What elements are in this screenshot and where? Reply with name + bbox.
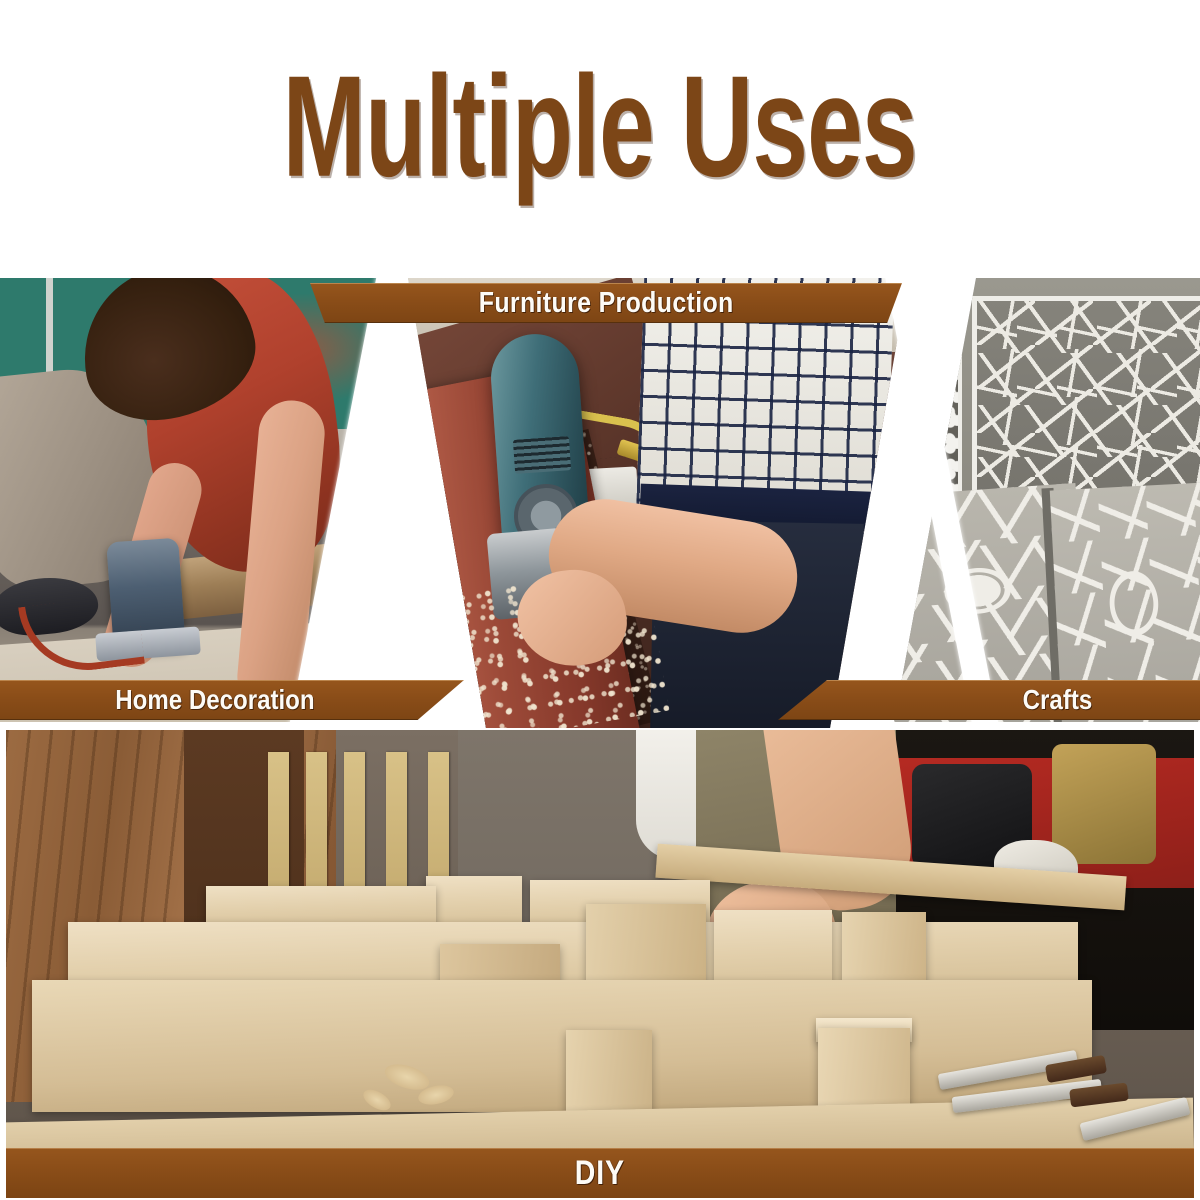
label-diy-text: DIY [575,1154,625,1193]
label-crafts[interactable]: Crafts [778,680,1200,720]
lattice-screen-crackle [972,296,1200,502]
diy-photo [6,730,1194,1194]
label-furniture-production[interactable]: Furniture Production [310,283,902,323]
label-crafts-text: Crafts [1022,684,1092,716]
tan-tool-bag [1052,744,1156,864]
infographic-page: Multiple Uses [0,0,1200,1200]
label-furniture-production-text: Furniture Production [479,287,734,320]
page-title: Multiple Uses [283,54,917,222]
panel-furniture-production[interactable] [300,278,908,728]
saw-vent-grille [513,436,571,474]
furniture-production-photo [300,278,908,728]
panel-diy[interactable] [6,730,1194,1194]
label-home-decoration-text: Home Decoration [115,684,314,716]
page-header: Multiple Uses [0,0,1200,275]
middle-panel-row [0,278,1200,728]
wood-beam-front [32,980,1092,1112]
label-diy[interactable]: DIY [6,1148,1194,1198]
label-home-decoration[interactable]: Home Decoration [0,680,464,720]
